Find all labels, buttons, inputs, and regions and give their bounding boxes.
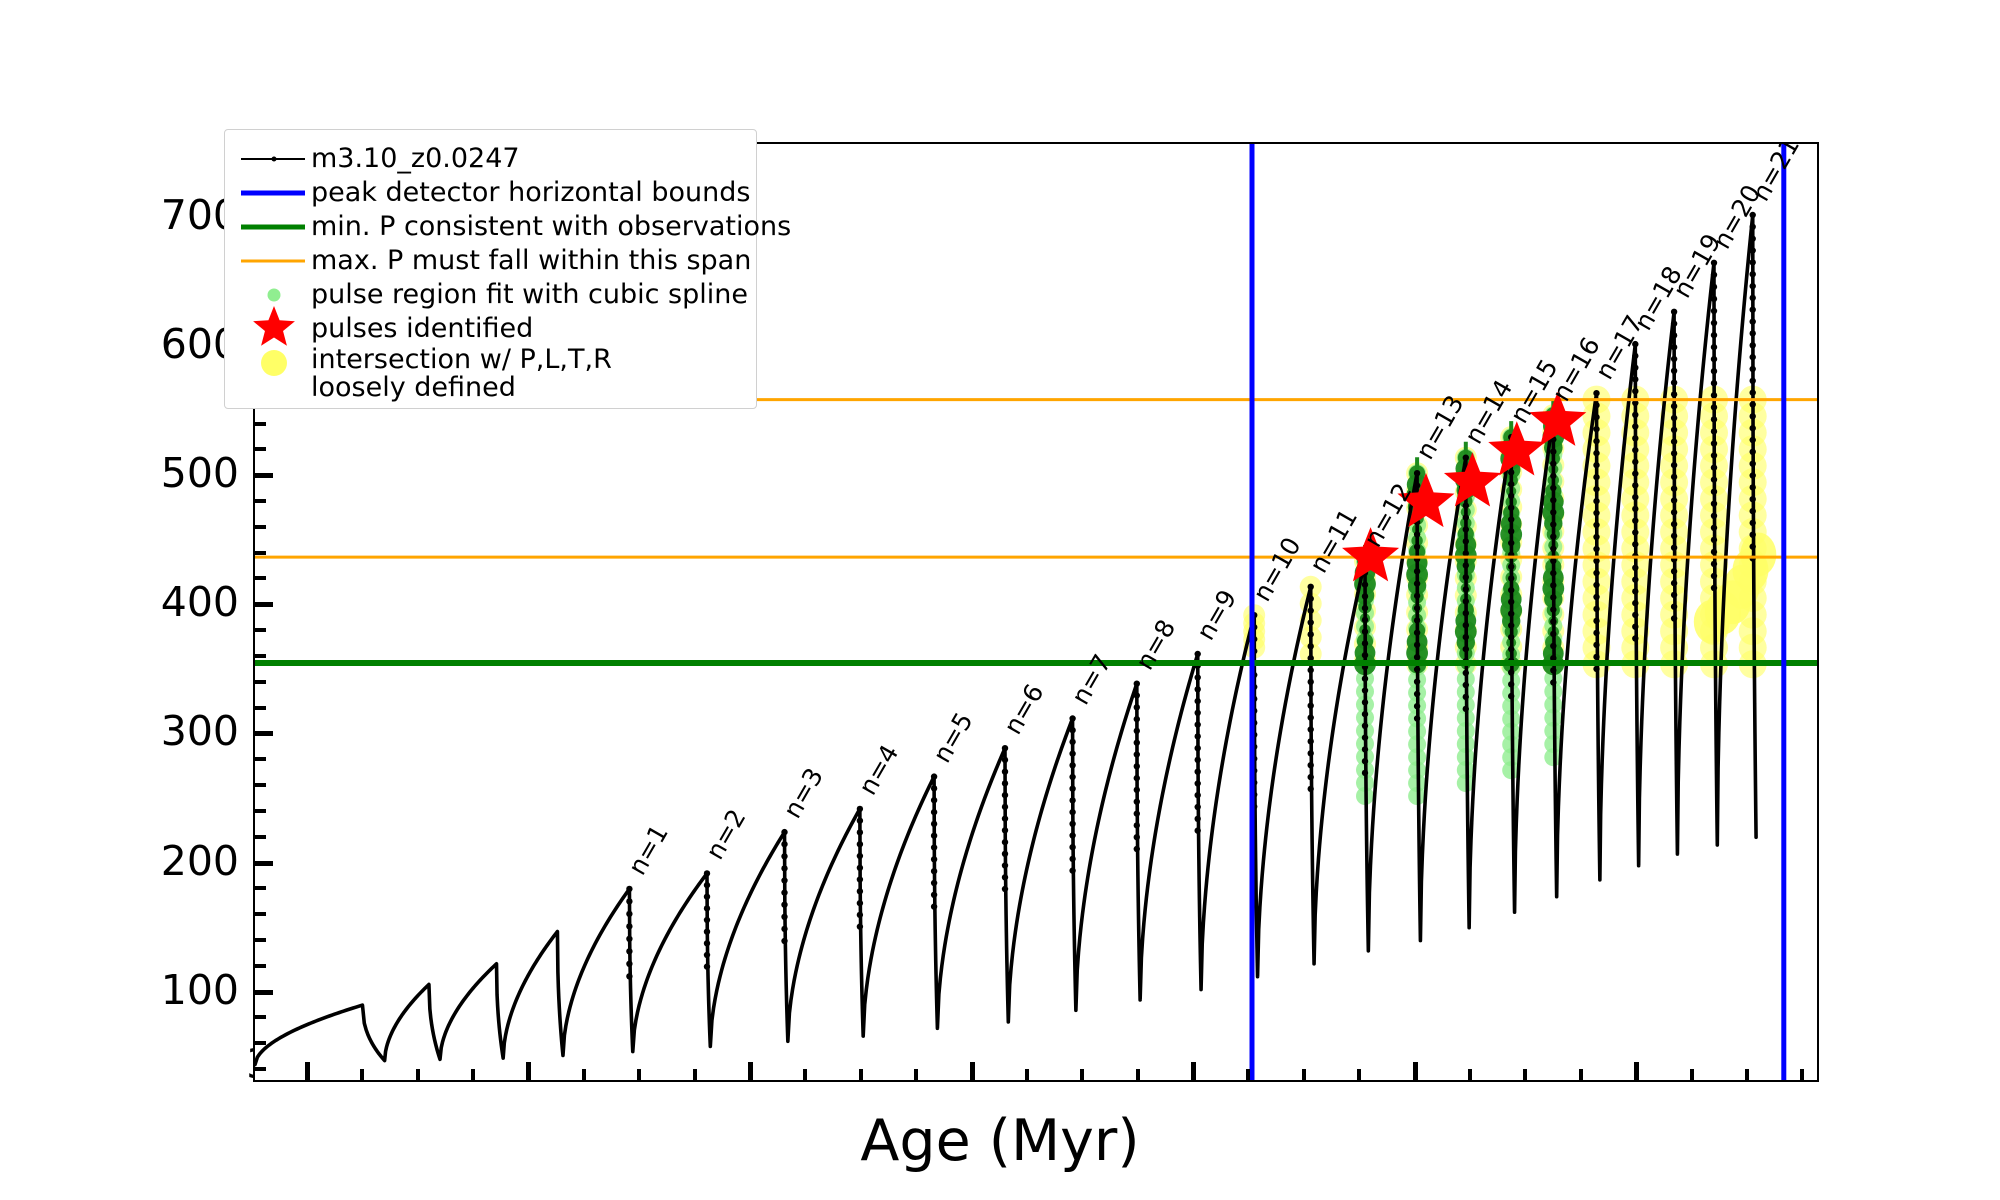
data-point-marker xyxy=(1550,606,1556,612)
data-point-marker xyxy=(1414,642,1420,648)
data-point-marker xyxy=(1750,283,1756,289)
legend-key-line-icon xyxy=(237,176,311,210)
data-point-marker xyxy=(1414,703,1420,709)
x-axis-major-tick xyxy=(1413,1062,1418,1080)
data-point-marker xyxy=(1195,804,1201,810)
data-point-marker xyxy=(781,938,787,944)
data-point-marker xyxy=(1414,715,1420,721)
data-point-marker xyxy=(1134,681,1140,687)
data-point-marker xyxy=(1508,599,1514,605)
x-axis-minor-tick xyxy=(1745,1069,1749,1080)
data-point-marker xyxy=(1463,634,1469,640)
data-point-marker xyxy=(1508,528,1514,534)
data-point-marker xyxy=(626,973,632,979)
data-point-marker xyxy=(1195,757,1201,763)
data-point-marker xyxy=(781,841,787,847)
data-point-marker xyxy=(1463,646,1469,652)
x-axis-minor-tick xyxy=(1468,1069,1472,1080)
data-point-marker xyxy=(1671,533,1677,539)
data-point-marker xyxy=(1593,654,1599,660)
data-point-marker xyxy=(704,870,710,876)
x-axis-minor-tick xyxy=(859,1069,863,1080)
data-point-marker xyxy=(1195,686,1201,692)
data-point-marker xyxy=(1593,402,1599,408)
data-point-marker xyxy=(931,880,937,886)
data-point-marker xyxy=(1414,531,1420,537)
data-point-marker xyxy=(1508,540,1514,546)
data-point-marker xyxy=(1414,470,1420,476)
data-point-marker xyxy=(1711,452,1717,458)
legend-item[interactable]: m3.10_z0.0247 xyxy=(237,142,746,176)
x-axis-minor-tick xyxy=(416,1069,420,1080)
x-axis-minor-tick xyxy=(637,1069,641,1080)
data-point-marker xyxy=(1750,496,1756,502)
legend-key-star-icon xyxy=(237,312,311,346)
legend-item-label: min. P consistent with observations xyxy=(311,213,791,241)
data-point-marker xyxy=(1711,476,1717,482)
x-axis-minor-tick xyxy=(914,1069,918,1080)
data-point-marker xyxy=(857,841,863,847)
data-point-marker xyxy=(1508,481,1514,487)
data-point-marker xyxy=(1593,558,1599,564)
data-point-marker xyxy=(1750,389,1756,395)
data-point-marker xyxy=(1750,437,1756,443)
peak-index-label: n=21 xyxy=(1746,144,1805,206)
data-point-marker xyxy=(1671,344,1677,350)
legend-item[interactable]: peak detector horizontal bounds xyxy=(237,176,746,210)
data-point-marker xyxy=(1550,534,1556,540)
data-point-marker xyxy=(1362,711,1368,717)
data-point-marker xyxy=(1750,484,1756,490)
data-point-marker xyxy=(1632,412,1638,418)
data-point-marker xyxy=(1671,568,1677,574)
legend-item[interactable]: intersection w/ P,L,T,Rloosely defined xyxy=(237,346,746,396)
data-point-marker xyxy=(1414,691,1420,697)
y-axis-minor-tick xyxy=(255,964,266,968)
data-point-marker xyxy=(1632,529,1638,535)
data-point-marker xyxy=(1550,509,1556,515)
data-point-marker xyxy=(1671,604,1677,610)
data-point-marker xyxy=(1308,679,1314,685)
data-point-marker xyxy=(1711,501,1717,507)
data-point-marker xyxy=(1069,856,1075,862)
data-point-marker xyxy=(931,844,937,850)
data-point-marker xyxy=(1671,521,1677,527)
data-point-marker xyxy=(1508,575,1514,581)
data-point-marker xyxy=(1134,799,1140,805)
data-point-marker xyxy=(1002,780,1008,786)
peak-index-label: n=11 xyxy=(1304,504,1363,578)
data-point-marker xyxy=(1750,449,1756,455)
data-point-marker xyxy=(1069,739,1075,745)
data-point-marker xyxy=(1750,508,1756,514)
data-point-marker xyxy=(626,936,632,942)
data-point-marker xyxy=(1711,440,1717,446)
data-point-marker xyxy=(1308,750,1314,756)
y-axis-minor-tick xyxy=(255,757,266,761)
data-point-marker xyxy=(1632,376,1638,382)
data-point-marker xyxy=(1550,643,1556,649)
data-point-marker xyxy=(1508,587,1514,593)
data-point-marker xyxy=(626,961,632,967)
data-point-marker xyxy=(1134,834,1140,840)
data-point-marker xyxy=(1069,832,1075,838)
data-point-marker xyxy=(1593,618,1599,624)
data-point-marker xyxy=(1593,522,1599,528)
data-point-marker xyxy=(1671,545,1677,551)
y-axis-minor-tick xyxy=(255,576,266,580)
data-point-marker xyxy=(1750,366,1756,372)
data-point-marker xyxy=(1671,368,1677,374)
data-point-marker xyxy=(1632,353,1638,359)
data-point-marker xyxy=(1414,654,1420,660)
data-point-marker xyxy=(1069,762,1075,768)
data-point-marker xyxy=(1463,694,1469,700)
legend-line-swatch xyxy=(241,191,305,196)
data-point-marker xyxy=(781,926,787,932)
legend-dot-swatch xyxy=(268,289,281,302)
data-point-marker xyxy=(1362,628,1368,634)
data-point-marker xyxy=(1711,344,1717,350)
data-point-marker xyxy=(931,892,937,898)
data-point-marker xyxy=(1195,827,1201,833)
data-point-marker xyxy=(1550,448,1556,454)
data-point-marker xyxy=(1632,624,1638,630)
data-point-marker xyxy=(781,877,787,883)
legend-item[interactable]: pulses identified xyxy=(237,312,746,346)
data-point-marker xyxy=(704,905,710,911)
y-axis-minor-tick xyxy=(255,447,266,451)
data-point-marker xyxy=(1711,368,1717,374)
data-point-marker xyxy=(1750,425,1756,431)
data-point-marker xyxy=(1134,787,1140,793)
data-point-marker xyxy=(1711,525,1717,531)
data-point-marker xyxy=(626,923,632,929)
peak-index-label: n=9 xyxy=(1191,585,1242,645)
data-point-marker xyxy=(1750,307,1756,313)
data-point-marker xyxy=(1069,774,1075,780)
data-point-marker xyxy=(1195,674,1201,680)
data-point-marker xyxy=(1671,356,1677,362)
data-point-marker xyxy=(1711,284,1717,290)
x-axis-minor-tick xyxy=(1080,1069,1084,1080)
data-point-marker xyxy=(1593,438,1599,444)
data-point-marker xyxy=(1508,681,1514,687)
data-point-marker xyxy=(1134,810,1140,816)
data-point-marker xyxy=(781,865,787,871)
data-point-marker xyxy=(857,876,863,882)
data-point-marker xyxy=(1463,622,1469,628)
peak-index-label: n=4 xyxy=(853,740,904,800)
data-point-marker xyxy=(1002,757,1008,763)
data-point-marker xyxy=(1550,558,1556,564)
data-point-marker xyxy=(857,888,863,894)
data-point-marker xyxy=(1711,561,1717,567)
data-point-marker xyxy=(1711,332,1717,338)
data-point-marker xyxy=(1671,427,1677,433)
x-axis-minor-tick xyxy=(360,1069,364,1080)
y-axis-minor-tick xyxy=(255,783,266,787)
legend-item[interactable]: min. P consistent with observations xyxy=(237,210,746,244)
data-point-marker xyxy=(1550,582,1556,588)
data-point-marker xyxy=(1134,751,1140,757)
data-point-marker xyxy=(1632,576,1638,582)
peak-index-label: n=10 xyxy=(1247,532,1306,606)
data-point-marker xyxy=(1632,388,1638,394)
data-point-marker xyxy=(1550,679,1556,685)
y-axis-minor-tick xyxy=(255,886,266,890)
data-point-marker xyxy=(1671,403,1677,409)
data-point-marker xyxy=(1308,726,1314,732)
data-point-marker xyxy=(857,818,863,824)
data-point-marker xyxy=(1308,774,1314,780)
data-point-marker xyxy=(1671,438,1677,444)
plot-area: n=1n=2n=3n=4n=5n=6n=7n=8n=9n=10n=11n=12n… xyxy=(253,142,1819,1082)
data-point-marker xyxy=(1362,617,1368,623)
legend-item[interactable]: pulse region fit with cubic spline xyxy=(237,278,746,312)
data-point-marker xyxy=(1308,619,1314,625)
data-point-marker xyxy=(1632,612,1638,618)
data-point-marker xyxy=(1711,573,1717,579)
data-point-marker xyxy=(1414,605,1420,611)
data-point-marker xyxy=(1195,769,1201,775)
data-point-marker xyxy=(1671,332,1677,338)
data-point-marker xyxy=(1362,723,1368,729)
data-point-marker xyxy=(1508,693,1514,699)
data-point-marker xyxy=(1711,272,1717,278)
data-point-marker xyxy=(1711,428,1717,434)
peak-index-label: n=3 xyxy=(778,763,829,823)
data-point-marker xyxy=(1593,594,1599,600)
x-axis-title: Age (Myr) xyxy=(860,1108,1139,1174)
data-point-marker xyxy=(1414,568,1420,574)
data-point-marker xyxy=(1593,486,1599,492)
x-axis-minor-tick xyxy=(1579,1069,1583,1080)
data-point-marker xyxy=(1069,809,1075,815)
data-point-marker xyxy=(1362,581,1368,587)
data-point-marker xyxy=(931,797,937,803)
data-point-marker xyxy=(1195,745,1201,751)
data-point-marker xyxy=(1308,703,1314,709)
data-point-marker xyxy=(781,902,787,908)
legend-key-dot-big-icon xyxy=(237,346,311,380)
data-point-marker xyxy=(1463,670,1469,676)
legend-line-swatch xyxy=(241,225,305,230)
data-point-marker xyxy=(857,853,863,859)
x-axis-minor-tick xyxy=(693,1069,697,1080)
data-point-marker xyxy=(1671,462,1677,468)
data-point-marker xyxy=(1593,546,1599,552)
data-point-marker xyxy=(1414,617,1420,623)
legend-item-label: pulse region fit with cubic spline xyxy=(311,281,748,309)
x-axis-major-tick xyxy=(1191,1062,1196,1080)
data-point-marker xyxy=(1550,619,1556,625)
data-point-marker xyxy=(1711,392,1717,398)
legend-item-label: max. P must fall within this span xyxy=(311,247,751,275)
data-point-marker xyxy=(1671,615,1677,621)
data-point-marker xyxy=(1550,473,1556,479)
data-point-marker xyxy=(1550,521,1556,527)
data-point-marker xyxy=(1308,596,1314,602)
y-axis-tick-label: 500 xyxy=(161,449,239,497)
data-point-marker xyxy=(1069,786,1075,792)
data-point-marker xyxy=(1593,582,1599,588)
data-point-marker xyxy=(931,773,937,779)
data-point-marker xyxy=(1414,593,1420,599)
data-point-marker xyxy=(1593,426,1599,432)
data-point-marker xyxy=(1671,486,1677,492)
data-point-marker xyxy=(931,833,937,839)
data-point-marker xyxy=(1308,738,1314,744)
data-point-marker xyxy=(857,912,863,918)
data-point-marker xyxy=(1069,750,1075,756)
yellow-intersection-marker xyxy=(1740,533,1776,577)
data-point-marker xyxy=(1069,844,1075,850)
data-point-marker xyxy=(1463,514,1469,520)
data-point-marker xyxy=(1069,727,1075,733)
y-axis-tick-label: 200 xyxy=(161,837,239,885)
data-point-marker xyxy=(1414,630,1420,636)
data-point-marker xyxy=(626,911,632,917)
data-point-marker xyxy=(1069,867,1075,873)
data-point-marker xyxy=(1711,537,1717,543)
data-point-marker xyxy=(1463,706,1469,712)
data-point-marker xyxy=(626,898,632,904)
peak-index-label: n=1 xyxy=(622,820,673,880)
data-point-marker xyxy=(1002,745,1008,751)
data-point-marker xyxy=(1002,804,1008,810)
x-axis-minor-tick xyxy=(471,1069,475,1080)
legend-item[interactable]: max. P must fall within this span xyxy=(237,244,746,278)
y-axis-minor-tick xyxy=(255,628,266,632)
data-point-marker xyxy=(1593,414,1599,420)
y-axis-tick-label: 400 xyxy=(161,578,239,626)
data-point-marker xyxy=(1711,296,1717,302)
data-point-marker xyxy=(1362,734,1368,740)
data-point-marker xyxy=(1711,380,1717,386)
data-point-marker xyxy=(931,856,937,862)
data-point-marker xyxy=(1711,356,1717,362)
data-point-marker xyxy=(1414,544,1420,550)
data-point-marker xyxy=(1550,570,1556,576)
x-axis-minor-tick xyxy=(582,1069,586,1080)
data-point-marker xyxy=(1632,565,1638,571)
data-point-marker xyxy=(1002,815,1008,821)
data-point-marker xyxy=(1711,549,1717,555)
legend-key-line-icon xyxy=(237,244,311,278)
data-point-marker xyxy=(1593,390,1599,396)
data-point-marker xyxy=(1362,687,1368,693)
peak-index-label: n=7 xyxy=(1066,649,1117,709)
data-point-marker xyxy=(1550,667,1556,673)
data-point-marker xyxy=(1632,423,1638,429)
data-point-marker xyxy=(1632,482,1638,488)
data-point-marker xyxy=(1195,733,1201,739)
data-point-marker xyxy=(931,809,937,815)
data-point-marker xyxy=(1711,404,1717,410)
data-point-marker xyxy=(1463,562,1469,568)
data-point-marker xyxy=(626,948,632,954)
x-axis-minor-tick xyxy=(1246,1069,1250,1080)
figure-root: FM period (days) Age (Myr) 7006005004003… xyxy=(0,0,2000,1200)
data-point-marker xyxy=(1134,692,1140,698)
data-point-marker xyxy=(857,806,863,812)
data-point-marker xyxy=(1308,762,1314,768)
data-point-marker xyxy=(1134,846,1140,852)
y-axis-minor-tick xyxy=(255,654,266,658)
data-point-marker xyxy=(1463,526,1469,532)
data-point-marker xyxy=(1195,710,1201,716)
data-point-marker xyxy=(857,829,863,835)
data-point-marker xyxy=(1671,450,1677,456)
data-point-marker xyxy=(1750,543,1756,549)
data-point-marker xyxy=(781,889,787,895)
data-point-marker xyxy=(1750,378,1756,384)
data-point-marker xyxy=(1463,574,1469,580)
data-point-marker xyxy=(1069,797,1075,803)
data-point-marker xyxy=(1593,630,1599,636)
y-axis-minor-tick xyxy=(255,525,266,529)
data-point-marker xyxy=(1508,493,1514,499)
data-point-marker xyxy=(1711,308,1717,314)
data-point-marker xyxy=(857,923,863,929)
data-point-marker xyxy=(1671,580,1677,586)
x-axis-major-tick xyxy=(1634,1062,1639,1080)
x-axis-major-tick xyxy=(526,1062,531,1080)
data-point-marker xyxy=(1671,474,1677,480)
y-axis-major-tick xyxy=(255,731,273,736)
legend-line-swatch xyxy=(241,260,305,263)
y-axis-minor-tick xyxy=(255,551,266,555)
data-point-marker xyxy=(1750,354,1756,360)
data-point-marker xyxy=(1308,667,1314,673)
data-point-marker xyxy=(1593,534,1599,540)
x-axis-major-tick xyxy=(748,1062,753,1080)
peak-index-label: n=6 xyxy=(998,679,1049,739)
legend-dot-swatch xyxy=(261,350,287,376)
data-point-marker xyxy=(1632,506,1638,512)
data-point-marker xyxy=(1632,447,1638,453)
data-point-marker xyxy=(781,853,787,859)
data-point-marker xyxy=(1134,740,1140,746)
y-axis-minor-tick xyxy=(255,835,266,839)
data-point-marker xyxy=(1002,769,1008,775)
y-axis-minor-tick xyxy=(255,680,266,684)
data-point-marker xyxy=(1463,502,1469,508)
x-axis-major-tick xyxy=(305,1062,310,1080)
data-point-marker xyxy=(1750,271,1756,277)
data-point-marker xyxy=(1069,821,1075,827)
data-point-marker xyxy=(1671,309,1677,315)
data-point-marker xyxy=(1671,320,1677,326)
data-point-marker xyxy=(1593,510,1599,516)
y-axis-major-tick xyxy=(255,861,273,866)
data-point-marker xyxy=(1002,862,1008,868)
data-point-marker xyxy=(1362,699,1368,705)
data-point-marker xyxy=(704,917,710,923)
data-point-marker xyxy=(1550,546,1556,552)
data-point-marker xyxy=(1632,588,1638,594)
data-point-marker xyxy=(857,865,863,871)
data-point-marker xyxy=(1671,379,1677,385)
legend-point-swatch xyxy=(272,157,277,162)
data-point-marker xyxy=(1308,714,1314,720)
data-point-marker xyxy=(1134,704,1140,710)
data-point-marker xyxy=(1195,721,1201,727)
data-point-marker xyxy=(1508,634,1514,640)
data-point-marker xyxy=(1362,758,1368,764)
chart-legend: m3.10_z0.0247peak detector horizontal bo… xyxy=(224,129,757,409)
